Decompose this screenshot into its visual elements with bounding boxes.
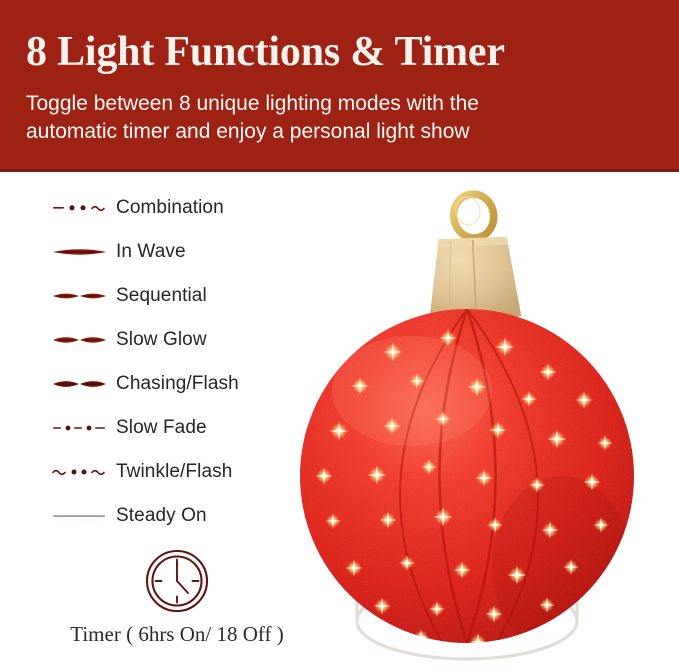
- mode-label: Steady On: [116, 505, 207, 527]
- mode-label: Slow Fade: [116, 417, 207, 439]
- page-subtitle: Toggle between 8 unique lighting modes w…: [26, 90, 566, 146]
- product-image: [262, 176, 679, 672]
- mode-label: Slow Glow: [116, 329, 207, 351]
- page-title: 8 Light Functions & Timer: [26, 28, 505, 76]
- mode-label: Twinkle/Flash: [116, 461, 232, 483]
- mode-label: Combination: [116, 197, 224, 219]
- mode-label: Sequential: [116, 285, 207, 307]
- infographic-page: 8 Light Functions & Timer Toggle between…: [0, 0, 679, 672]
- mode-label: Chasing/Flash: [116, 373, 239, 395]
- double-lens-line-icon: [52, 328, 108, 352]
- ornament-sphere: [300, 309, 634, 656]
- dash-dot-dash-dot-icon: [52, 416, 108, 440]
- tilde-dot-dot-tilde-icon: [52, 460, 108, 484]
- long-spindle-line-icon: [52, 240, 108, 264]
- double-spindle-line-icon: [52, 284, 108, 308]
- ornament-cap: [427, 236, 522, 319]
- mode-label: In Wave: [116, 241, 186, 263]
- header-banner: 8 Light Functions & Timer Toggle between…: [0, 0, 679, 172]
- ornament-hanger-ring: [450, 191, 496, 241]
- dash-dot-dot-tilde-icon: [52, 196, 108, 220]
- solid-line-icon: [52, 504, 108, 528]
- clock-icon: [144, 548, 210, 614]
- double-lens-bold-icon: [52, 372, 108, 396]
- ornament-illustration: [262, 176, 679, 672]
